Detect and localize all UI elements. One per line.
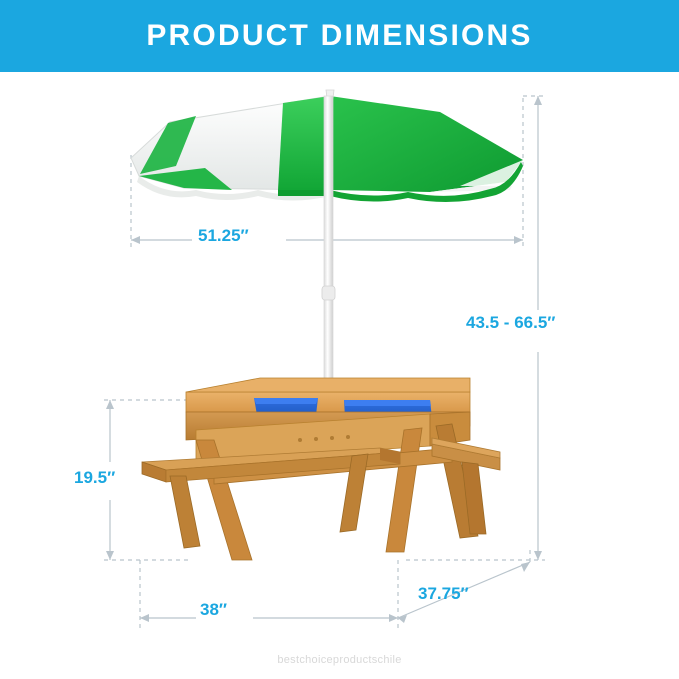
product-dimensions-page: Product Dimensions (0, 0, 679, 679)
dimension-table-length: 38″ (200, 600, 227, 620)
dimension-table-depth: 37.75″ (418, 584, 469, 604)
umbrella-pole (322, 96, 335, 420)
watermark: bestchoiceproductschile (0, 654, 679, 666)
picnic-table (142, 378, 500, 560)
dimension-table-height: 19.5″ (74, 468, 115, 488)
product-illustration (0, 0, 679, 679)
dimension-umbrella-width: 51.25″ (198, 226, 249, 246)
dimension-height-range: 43.5 - 66.5″ (466, 313, 555, 333)
